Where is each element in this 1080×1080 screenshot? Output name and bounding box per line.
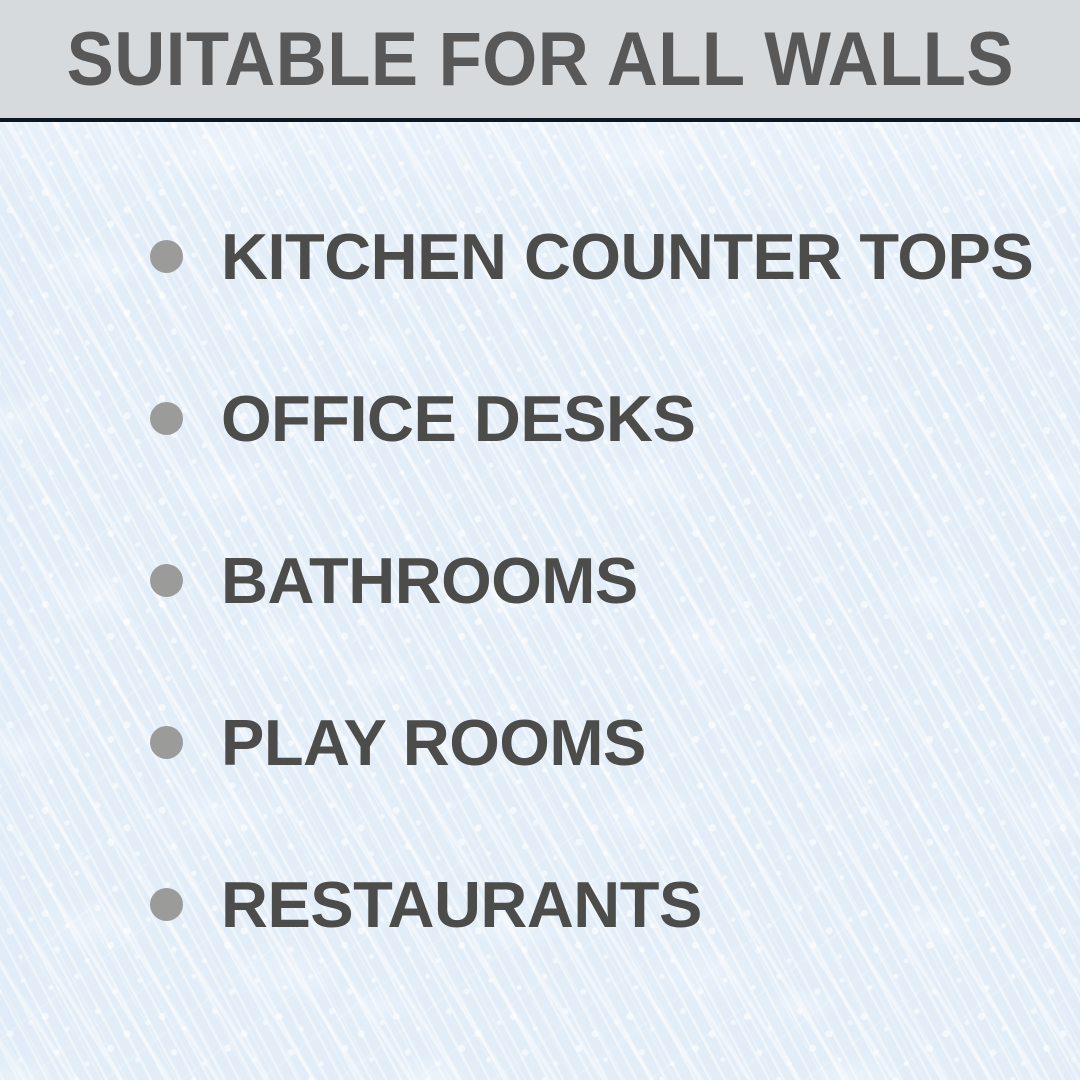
list-item-label: PLAY ROOMS [221, 710, 646, 775]
header-divider [0, 118, 1080, 122]
list-item[interactable]: RESTAURANTS [150, 868, 702, 940]
bullet-circle-icon [150, 402, 183, 435]
bullet-circle-icon [150, 726, 183, 759]
page-title: SUITABLE FOR ALL WALLS [66, 22, 1013, 98]
header-band: SUITABLE FOR ALL WALLS [0, 0, 1080, 118]
list-item-label: BATHROOMS [221, 548, 638, 613]
list-item[interactable]: BATHROOMS [150, 544, 638, 616]
list-item[interactable]: PLAY ROOMS [150, 706, 646, 778]
bullet-circle-icon [150, 564, 183, 597]
bullet-circle-icon [150, 888, 183, 921]
list-item[interactable]: KITCHEN COUNTER TOPS [150, 220, 1033, 292]
suitable-surfaces-list: KITCHEN COUNTER TOPS OFFICE DESKS BATHRO… [0, 122, 1080, 1080]
list-item-label: RESTAURANTS [221, 872, 702, 937]
textured-background-panel: KITCHEN COUNTER TOPS OFFICE DESKS BATHRO… [0, 122, 1080, 1080]
list-item[interactable]: OFFICE DESKS [150, 382, 695, 454]
list-item-label: OFFICE DESKS [221, 386, 695, 451]
bullet-circle-icon [150, 240, 183, 273]
list-item-label: KITCHEN COUNTER TOPS [221, 224, 1033, 289]
product-feature-card: SUITABLE FOR ALL WALLS KITCHEN COUNTER T… [0, 0, 1080, 1080]
